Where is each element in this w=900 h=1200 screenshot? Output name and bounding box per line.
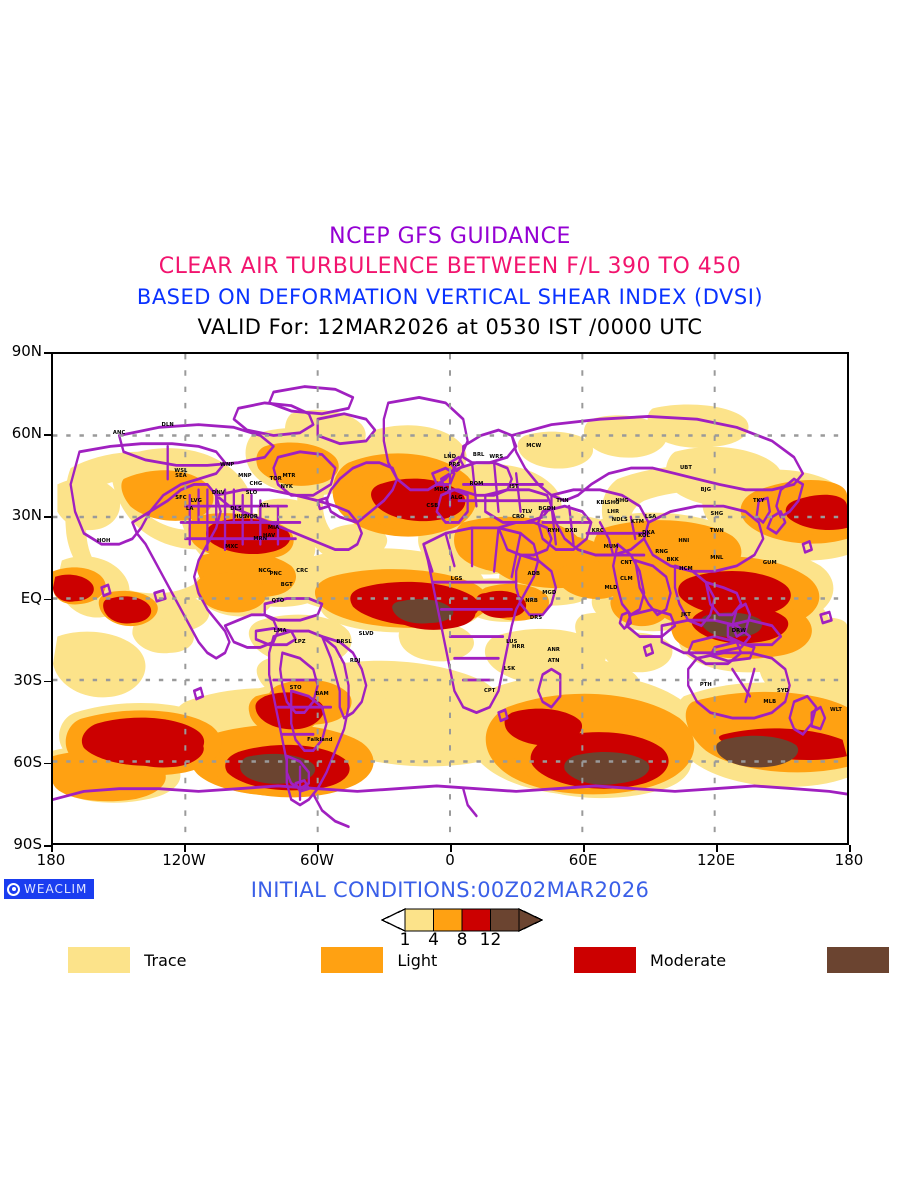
station-label: IST — [509, 484, 519, 490]
station-label: DRS — [530, 615, 542, 621]
colorbar-segment — [434, 909, 463, 931]
y-axis-tick — [44, 681, 52, 683]
station-label: RYH — [548, 528, 560, 534]
x-axis-tick — [51, 845, 53, 852]
station-label: ATL — [259, 503, 270, 509]
station-label: LVG — [191, 498, 202, 504]
station-label: THN — [556, 498, 569, 504]
colorbar-over-arrow — [519, 909, 542, 931]
y-axis-label: 30N — [0, 508, 42, 522]
station-label: CRC — [296, 568, 308, 574]
station-label: STO — [290, 685, 302, 691]
station-label: CNT — [620, 560, 632, 566]
map-plot-area: ANCDLNWSLSEASFCLALVGDNVHOHWNPMNPCHGSLODL… — [51, 352, 849, 845]
station-label: MGD — [542, 590, 556, 596]
station-label: DRW — [732, 628, 746, 634]
station-label: MCW — [526, 443, 541, 449]
station-label: BJG — [701, 487, 711, 493]
y-axis-label: 30S — [0, 673, 42, 687]
station-label: HNI — [678, 538, 689, 544]
legend-label: Trace — [144, 951, 186, 970]
station-label: UBT — [680, 465, 692, 471]
legend-item: Severe — [827, 946, 900, 974]
station-label: SEA — [175, 473, 187, 479]
station-label: MDD — [434, 487, 448, 493]
station-label: BGT — [281, 582, 293, 588]
station-label: CRO — [512, 514, 525, 520]
station-label: LMA — [274, 628, 287, 634]
station-label: HOH — [97, 538, 110, 544]
title-line-model: NCEP GFS GUIDANCE — [0, 222, 900, 252]
x-axis-tick — [583, 845, 585, 852]
station-label-layer: ANCDLNWSLSEASFCLALVGDNVHOHWNPMNPCHGSLODL… — [53, 354, 847, 843]
y-axis-label: EQ — [0, 591, 42, 605]
station-label: NDLS — [612, 517, 628, 523]
station-label: LPZ — [294, 639, 305, 645]
station-label: LSK — [504, 666, 515, 672]
y-axis-tick — [44, 763, 52, 765]
station-label: BKK — [667, 557, 679, 563]
station-label: CHG — [250, 481, 263, 487]
legend-item: Light — [321, 946, 437, 974]
station-label: BRL — [473, 452, 485, 458]
station-label: SHG — [711, 511, 724, 517]
x-axis-label: 120W — [149, 851, 219, 869]
colorbar-under-arrow — [382, 909, 405, 931]
station-label: DLN — [162, 422, 174, 428]
y-axis-tick — [44, 352, 52, 354]
y-axis-tick — [44, 516, 52, 518]
station-label: QTO — [272, 598, 285, 604]
station-label: NRB — [525, 598, 538, 604]
station-label: LGS — [451, 576, 463, 582]
station-label: TWN — [710, 528, 724, 534]
x-axis-tick — [849, 845, 851, 852]
station-label: NYK — [281, 484, 293, 490]
station-label: DNV — [212, 490, 225, 496]
title-line-method: BASED ON DEFORMATION VERTICAL SHEAR INDE… — [0, 282, 900, 312]
station-label: DKA — [642, 530, 655, 536]
station-label: ANC — [113, 430, 125, 436]
station-label: ADB — [528, 571, 541, 577]
legend-swatch — [827, 947, 889, 973]
x-axis-tick — [317, 845, 319, 852]
x-axis-label: 60E — [548, 851, 618, 869]
station-label: MLB — [763, 699, 776, 705]
legend-swatch — [321, 947, 383, 973]
chart-title-block: NCEP GFS GUIDANCE CLEAR AIR TURBULENCE B… — [0, 222, 900, 342]
y-axis-label: 90S — [0, 837, 42, 851]
colorbar — [343, 908, 558, 932]
y-axis-label: 60N — [0, 426, 42, 440]
colorbar-segment — [405, 909, 434, 931]
station-label: BAM — [315, 691, 328, 697]
station-label: GUM — [763, 560, 777, 566]
station-label: LSA — [645, 514, 656, 520]
legend-item: Trace — [68, 946, 186, 974]
station-label: SFC — [175, 495, 186, 501]
station-label: LHR — [607, 509, 619, 515]
x-axis-label: 60W — [282, 851, 352, 869]
station-label: HCM — [679, 566, 693, 572]
x-axis-label: 180 — [16, 851, 86, 869]
y-axis-label: 60S — [0, 755, 42, 769]
colorbar-segment — [462, 909, 491, 931]
station-label: MTR — [282, 473, 295, 479]
y-axis-tick — [44, 599, 52, 601]
station-label: PNC — [270, 571, 282, 577]
station-label: MXC — [225, 544, 238, 550]
station-label: BRSL — [336, 639, 351, 645]
x-axis-tick — [184, 845, 186, 852]
station-label: MNP — [238, 473, 252, 479]
initial-conditions-text: INITIAL CONDITIONS:00Z02MAR2026 — [0, 878, 900, 902]
legend-label: Moderate — [650, 951, 726, 970]
station-label: BGDH — [538, 506, 555, 512]
station-label: PTH — [700, 682, 712, 688]
station-label: WNP — [220, 462, 234, 468]
station-label: MIA — [268, 525, 279, 531]
station-label: LA — [186, 506, 194, 512]
station-label: ALG — [451, 495, 463, 501]
station-label: MLD — [604, 585, 617, 591]
station-label: SLO — [246, 490, 258, 496]
legend-swatch — [574, 947, 636, 973]
x-axis-label: 180 — [814, 851, 884, 869]
station-label: LND — [444, 454, 456, 460]
x-axis-tick — [450, 845, 452, 852]
station-label: DLS — [230, 506, 242, 512]
title-line-product: CLEAR AIR TURBULENCE BETWEEN F/L 390 TO … — [0, 252, 900, 282]
station-label: ANR — [547, 647, 560, 653]
colorbar-segment — [491, 909, 520, 931]
station-label: DXB — [565, 528, 578, 534]
station-label: NHG — [615, 498, 628, 504]
station-label: KRC — [592, 528, 604, 534]
station-label: RNG — [655, 549, 668, 555]
station-label: SLVD — [359, 631, 374, 637]
x-axis-label: 0 — [415, 851, 485, 869]
station-label: ATN — [548, 658, 560, 664]
severity-legend: TraceLightModerateSevere — [0, 946, 900, 976]
station-label: SYD — [777, 688, 789, 694]
station-label: Falkland — [307, 737, 332, 743]
station-label: TOR — [270, 476, 282, 482]
station-label: HRR — [512, 644, 525, 650]
station-label: RDJ — [350, 658, 361, 664]
x-axis-tick — [716, 845, 718, 852]
legend-label: Light — [397, 951, 437, 970]
station-label: NOR — [245, 514, 258, 520]
station-label: HAV — [263, 533, 275, 539]
station-label: TKY — [753, 498, 765, 504]
station-label: CPT — [484, 688, 495, 694]
station-label: WRS — [489, 454, 503, 460]
station-label: JKT — [681, 612, 691, 618]
legend-item: Moderate — [574, 946, 726, 974]
station-label: CSB — [426, 503, 438, 509]
title-line-valid: VALID For: 12MAR2026 at 0530 IST /0000 U… — [0, 312, 900, 342]
station-label: WLT — [830, 707, 842, 713]
x-axis-label: 120E — [681, 851, 751, 869]
station-label: KTM — [631, 519, 644, 525]
station-label: MNL — [710, 555, 723, 561]
y-axis-label: 90N — [0, 344, 42, 358]
station-label: PRS — [448, 462, 460, 468]
cat-forecast-chart: NCEP GFS GUIDANCE CLEAR AIR TURBULENCE B… — [0, 0, 900, 1200]
legend-swatch — [68, 947, 130, 973]
station-label: MUM — [604, 544, 619, 550]
station-label: ROM — [470, 481, 484, 487]
y-axis-tick — [44, 434, 52, 436]
station-label: CLM — [620, 576, 633, 582]
